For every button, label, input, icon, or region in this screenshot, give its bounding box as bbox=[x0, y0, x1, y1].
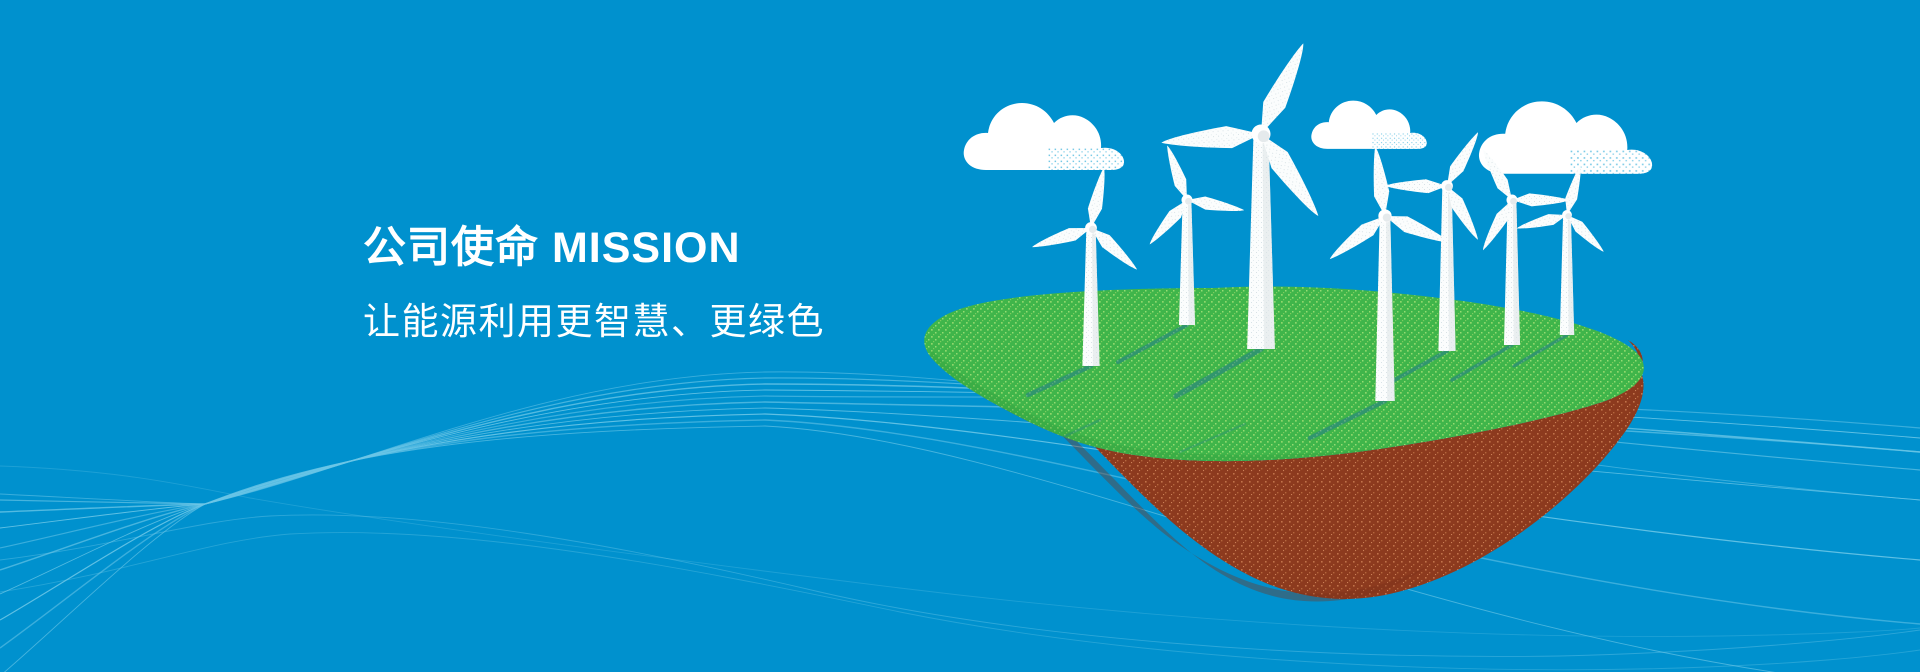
turbine-3 bbox=[1160, 39, 1327, 349]
island-grass bbox=[924, 286, 1644, 461]
turbine-1 bbox=[1030, 166, 1142, 366]
cloud-middle-icon bbox=[1311, 101, 1426, 149]
turbine-5 bbox=[1385, 129, 1484, 351]
mission-banner: 公司使命 MISSION 让能源利用更智慧、更绿色 bbox=[0, 0, 1920, 672]
mission-copy-block: 公司使命 MISSION 让能源利用更智慧、更绿色 bbox=[363, 222, 1003, 346]
turbine-6 bbox=[1477, 147, 1570, 345]
turbine-2 bbox=[1145, 143, 1245, 325]
page-title: 公司使命 MISSION bbox=[363, 222, 1003, 276]
turbine-layer bbox=[1030, 39, 1608, 401]
turbine-7 bbox=[1515, 163, 1608, 335]
cloud-layer bbox=[964, 101, 1652, 174]
cloud-left-icon bbox=[964, 103, 1124, 170]
island-soil bbox=[931, 340, 1644, 601]
turbine-4 bbox=[1325, 146, 1453, 401]
cloud-right-icon bbox=[1479, 101, 1652, 173]
turbine-shadows bbox=[1028, 325, 1567, 452]
page-subtitle: 让能源利用更智慧、更绿色 bbox=[363, 298, 1003, 346]
